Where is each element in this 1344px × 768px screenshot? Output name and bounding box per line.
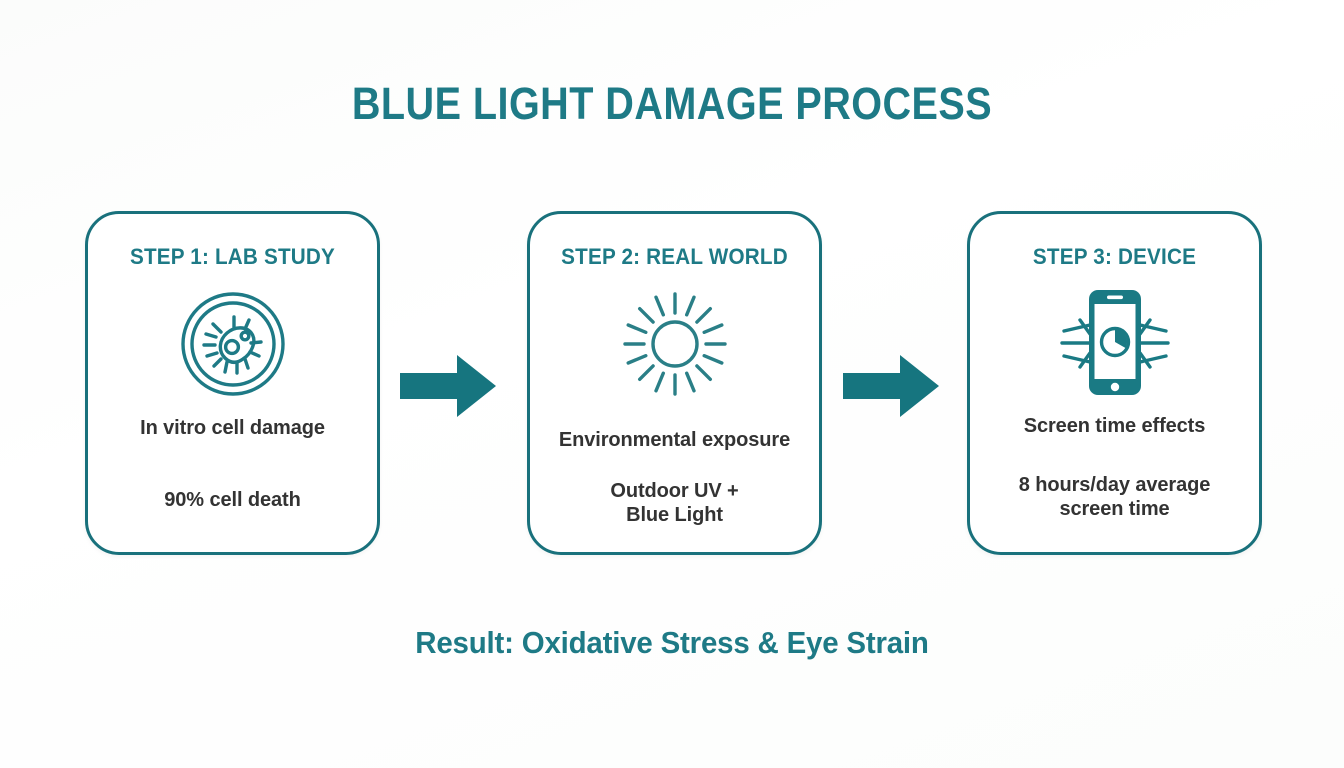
step-2-main-text: Environmental exposure	[542, 429, 807, 452]
cell-microbe-icon	[177, 288, 289, 400]
step-1-sub-text: 90% cell death	[100, 488, 365, 512]
arrow-step1-to-step2	[400, 355, 496, 417]
arrow-step2-to-step3	[843, 355, 939, 417]
step-3-icon-wrap	[970, 284, 1259, 404]
step-card-3: STEP 3: DEVICE	[967, 211, 1262, 555]
step-card-1: STEP 1: LAB STUDY	[85, 211, 380, 555]
step-3-main-text: Screen time effects	[982, 415, 1247, 438]
step-1-icon-wrap	[88, 284, 377, 404]
step-2-label: STEP 2: REAL WORLD	[539, 244, 811, 270]
step-2-icon-wrap	[530, 284, 819, 404]
step-3-sub-text: 8 hours/day average screen time	[982, 473, 1247, 522]
result-caption: Result: Oxidative Stress & Eye Strain	[34, 625, 1311, 661]
step-1-label: STEP 1: LAB STUDY	[97, 244, 369, 270]
step-card-2: STEP 2: REAL WORLD	[527, 211, 822, 555]
step-1-main-text: In vitro cell damage	[100, 417, 365, 440]
step-3-label: STEP 3: DEVICE	[979, 244, 1251, 270]
page-title: BLUE LIGHT DAMAGE PROCESS	[81, 78, 1264, 130]
smartphone-screentime-icon	[1059, 287, 1171, 401]
diagram-canvas: BLUE LIGHT DAMAGE PROCESS STEP 1: LAB ST…	[0, 0, 1344, 768]
sun-icon	[621, 290, 729, 398]
step-2-sub-text: Outdoor UV + Blue Light	[542, 479, 807, 528]
